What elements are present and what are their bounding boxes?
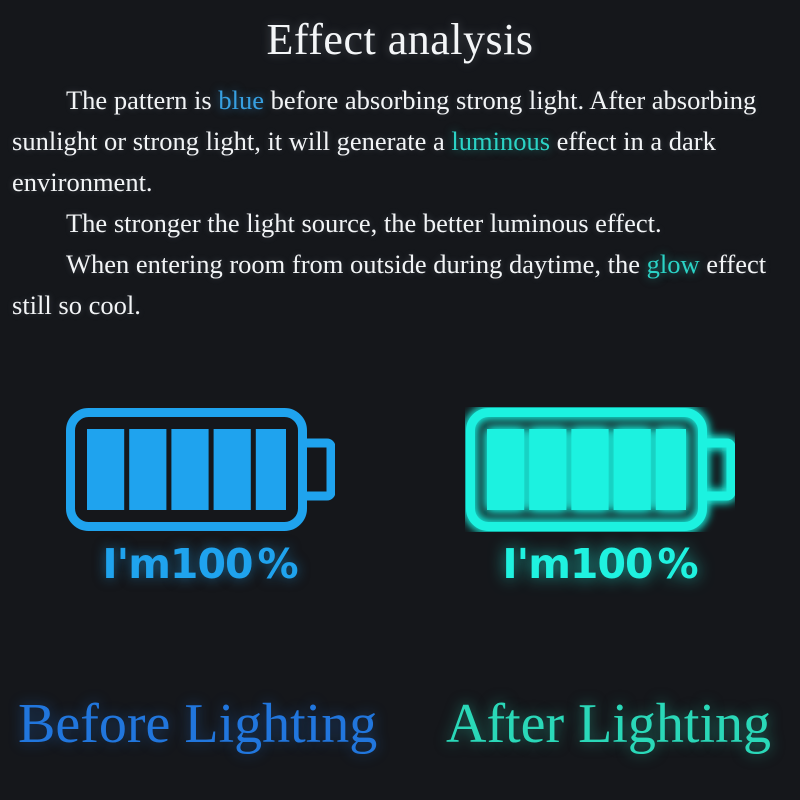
description-paragraph-1: The pattern is blue before absorbing str… [12,80,788,203]
battery-level-label: I'm100% [430,540,770,588]
comparison-item-before: I'm100% [30,402,370,612]
highlight-word-teal: glow [647,249,700,279]
highlight-word-teal: luminous [451,126,550,156]
battery-percent-sign: % [258,540,298,588]
battery-level-text: I'm100 [102,540,252,588]
caption-after-lighting: After Lighting [446,692,771,756]
text-segment: The pattern is [66,85,218,115]
battery-level-label: I'm100% [30,540,370,588]
battery-percent-sign: % [658,540,698,588]
description-paragraph-2: The stronger the light source, the bette… [12,203,788,244]
battery-full-icon [30,402,370,537]
caption-before-lighting: Before Lighting [18,692,377,756]
poster-canvas: Effect analysis The pattern is blue befo… [0,0,800,800]
description-block: The pattern is blue before absorbing str… [12,80,788,326]
battery-full-glow-icon [430,402,770,537]
text-segment: When entering room from outside during d… [66,249,647,279]
comparison-item-after: I'm100% [430,402,770,612]
page-title: Effect analysis [0,14,800,65]
highlight-word-blue: blue [218,85,264,115]
description-paragraph-3: When entering room from outside during d… [12,244,788,326]
text-segment: The stronger the light source, the bette… [66,208,662,238]
caption-row: Before Lighting After Lighting [0,692,800,772]
comparison-row: I'm100% [0,402,800,612]
battery-level-text: I'm100 [502,540,652,588]
